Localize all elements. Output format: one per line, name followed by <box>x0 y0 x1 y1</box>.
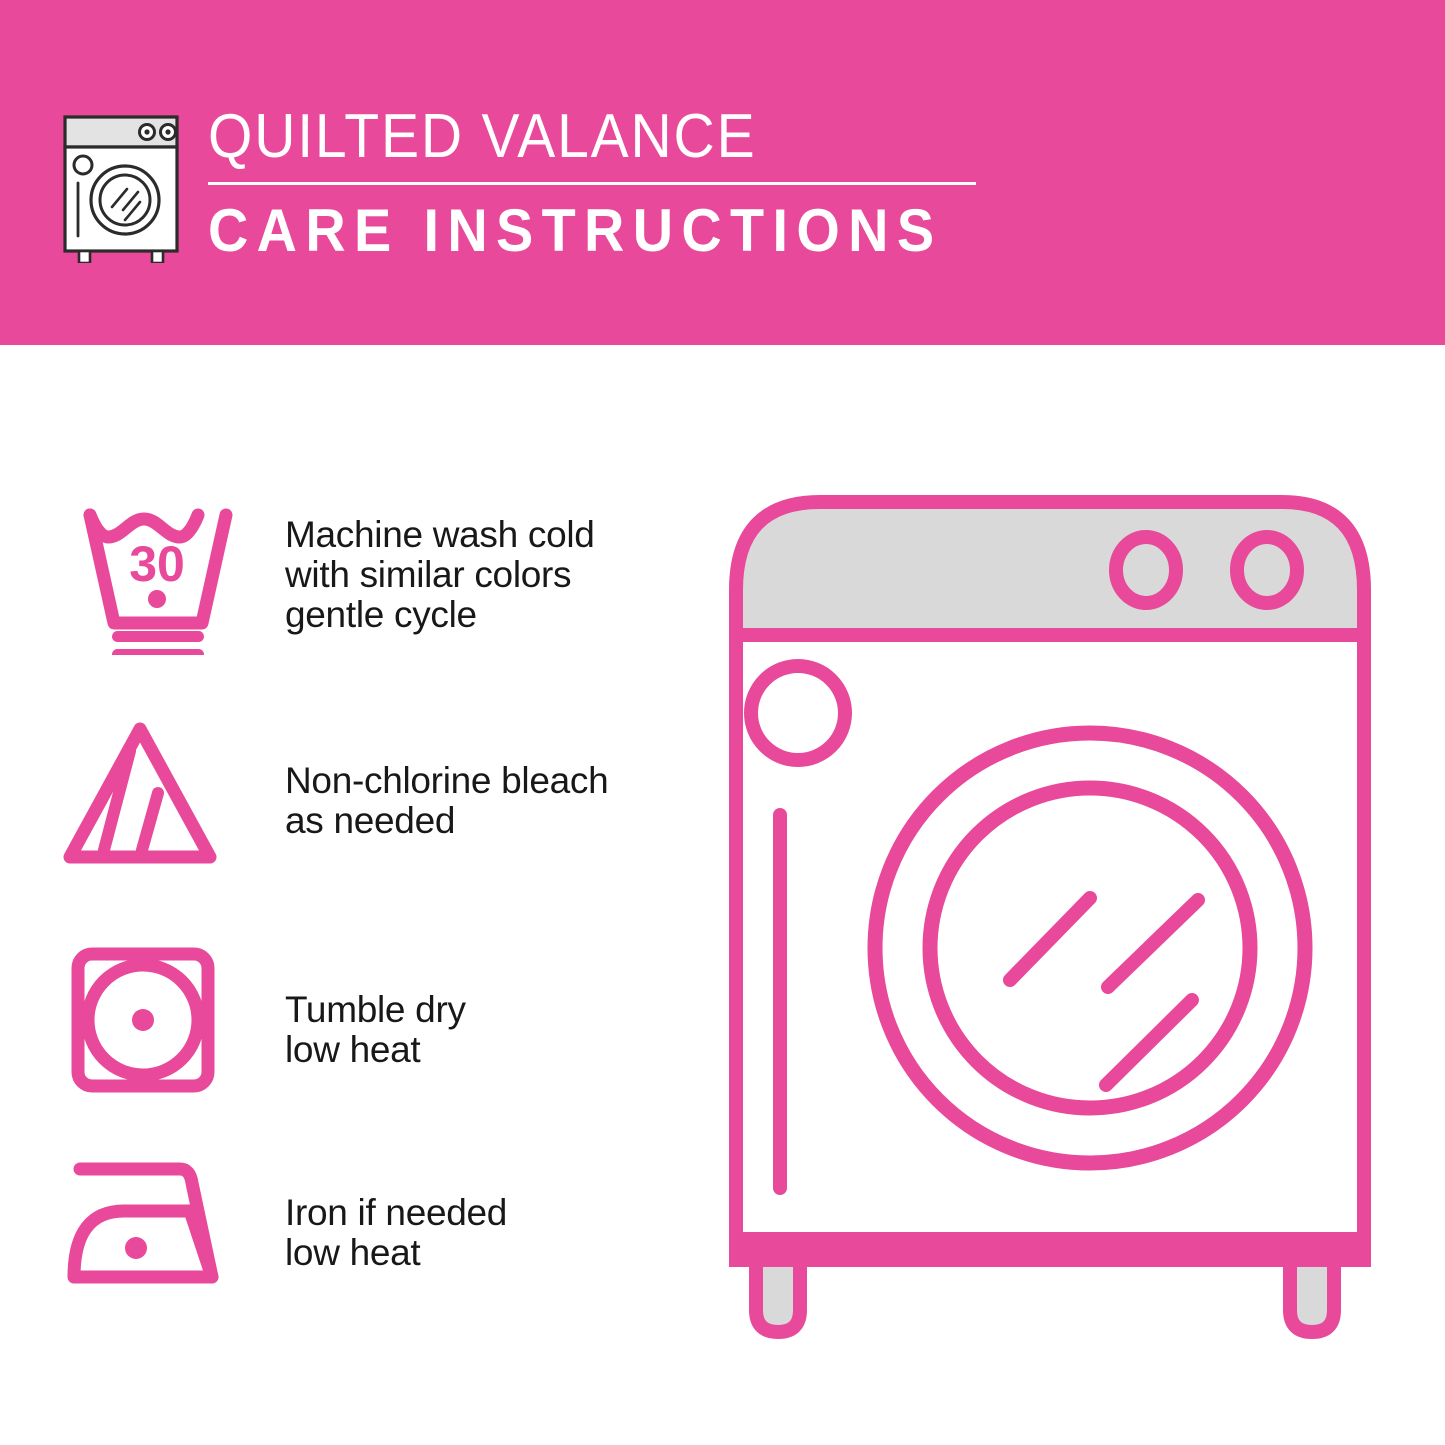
care-text-wash: Machine wash cold with similar colors ge… <box>285 495 595 635</box>
care-line: Non-chlorine bleach <box>285 761 608 801</box>
care-row-wash: 30 Machine wash cold with similar colors… <box>0 495 660 705</box>
care-line: low heat <box>285 1030 466 1070</box>
wash-temperature-value: 30 <box>129 536 185 592</box>
care-instructions-page: QUILTED VALANCE CARE INSTRUCTIONS 30 <box>0 0 1445 1445</box>
iron-icon <box>62 1145 237 1320</box>
care-row-iron: Iron if needed low heat <box>0 1145 660 1355</box>
care-row-tumble-dry: Tumble dry low heat <box>0 940 660 1150</box>
care-text-iron: Iron if needed low heat <box>285 1145 507 1273</box>
care-line: Iron if needed <box>285 1193 507 1233</box>
care-line: low heat <box>285 1233 507 1273</box>
tumble-dry-icon <box>62 940 237 1115</box>
machine-dispenser <box>751 666 845 760</box>
machine-knob-right <box>1237 537 1297 603</box>
care-line: gentle cycle <box>285 595 595 635</box>
care-instruction-list: 30 Machine wash cold with similar colors… <box>0 345 700 1445</box>
machine-knob-left <box>1116 537 1176 603</box>
bleach-triangle-icon <box>62 717 237 892</box>
wash-tub-icon: 30 <box>62 495 237 670</box>
machine-base-bar <box>736 1232 1364 1260</box>
header-banner: QUILTED VALANCE CARE INSTRUCTIONS <box>0 0 1445 345</box>
care-line: as needed <box>285 801 608 841</box>
title-divider <box>208 182 976 185</box>
header-text-block: QUILTED VALANCE CARE INSTRUCTIONS <box>208 100 988 265</box>
page-subtitle: CARE INSTRUCTIONS <box>208 197 933 265</box>
care-line: Tumble dry <box>285 990 466 1030</box>
machine-door-inner-ring <box>930 788 1250 1108</box>
care-text-bleach: Non-chlorine bleach as needed <box>285 717 608 841</box>
care-text-tumble-dry: Tumble dry low heat <box>285 940 466 1070</box>
care-line: Machine wash cold <box>285 515 595 555</box>
page-title: QUILTED VALANCE <box>208 100 926 174</box>
care-line: with similar colors <box>285 555 595 595</box>
washing-machine-illustration <box>700 460 1400 1390</box>
care-row-bleach: Non-chlorine bleach as needed <box>0 717 660 927</box>
washing-machine-logo-icon <box>57 103 185 263</box>
